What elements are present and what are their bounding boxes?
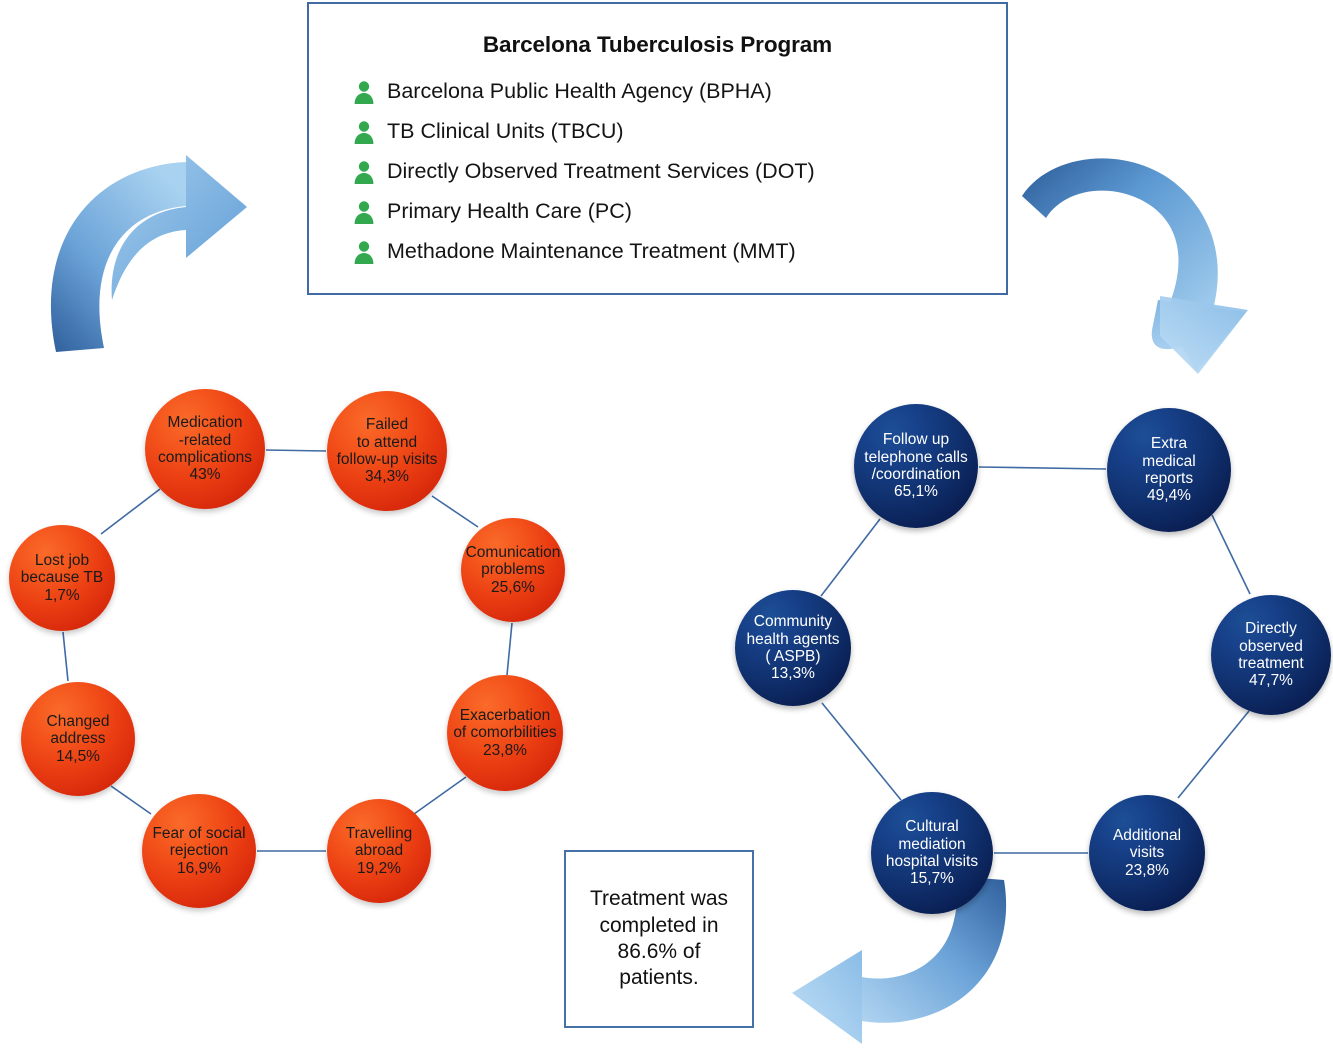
person-icon <box>353 79 375 105</box>
node-directly-observed-treatment: Directly observed treatment 47,7% <box>1211 595 1331 715</box>
arrow-top-left-icon <box>51 155 247 352</box>
node-label: Directly observed treatment 47,7% <box>1236 620 1305 689</box>
edge-cultural-community <box>822 703 901 800</box>
program-list-item: Directly Observed Treatment Services (DO… <box>353 151 993 191</box>
node-label: Lost job because TB 1,7% <box>19 552 105 604</box>
program-item-label: TB Clinical Units (TBCU) <box>387 119 624 144</box>
node-extra-medical-reports: Extra medical reports 49,4% <box>1107 408 1231 532</box>
edge-fear-changed <box>111 786 151 814</box>
node-label: Fear of social rejection 16,9% <box>150 825 247 877</box>
node-label: Exacerbation of comorbilities 23,8% <box>451 707 558 759</box>
person-icon <box>353 239 375 265</box>
program-list-item: Methadone Maintenance Treatment (MMT) <box>353 231 993 271</box>
node-label: Extra medical reports 49,4% <box>1140 435 1197 504</box>
edge-exacer-travelling <box>414 777 466 814</box>
arrow-top-right-icon <box>1022 158 1248 374</box>
edge-medication-failed <box>266 450 326 451</box>
node-exacerbation-of-comorbilities: Exacerbation of comorbilities 23,8% <box>447 675 563 791</box>
node-label: Additional visits 23,8% <box>1111 827 1183 879</box>
node-label: Medication -related complications 43% <box>156 414 254 483</box>
node-cultural-mediation-hospital-visits: Cultural mediation hospital visits 15,7% <box>871 792 993 914</box>
edge-lostjob-medication <box>101 489 160 534</box>
program-list: Barcelona Public Health Agency (BPHA) TB… <box>353 71 993 271</box>
node-label: Travelling abroad 19,2% <box>344 825 415 877</box>
node-follow-up-telephone-calls: Follow up telephone calls /coordination … <box>854 404 978 528</box>
node-label: Follow up telephone calls /coordination … <box>862 431 969 500</box>
node-label: Failed to attend follow-up visits 34,3% <box>335 416 440 485</box>
node-changed-address: Changed address 14,5% <box>21 682 135 796</box>
edge-communication-exacer <box>507 623 512 675</box>
program-list-item: Primary Health Care (PC) <box>353 191 993 231</box>
treatment-completion-box: Treatment was completed in 86.6% of pati… <box>564 850 754 1028</box>
edge-followup-extra <box>979 467 1106 469</box>
node-label: Cultural mediation hospital visits 15,7% <box>884 818 980 887</box>
edge-failed-communication <box>432 496 478 527</box>
program-list-item: Barcelona Public Health Agency (BPHA) <box>353 71 993 111</box>
program-box: Barcelona Tuberculosis Program Barcelona… <box>307 2 1008 295</box>
treatment-completion-text: Treatment was completed in 86.6% of pati… <box>584 886 734 992</box>
program-item-label: Primary Health Care (PC) <box>387 199 632 224</box>
edge-changed-lostjob <box>63 632 68 681</box>
node-lost-job-because-tb: Lost job because TB 1,7% <box>9 525 115 631</box>
node-community-health-agents-aspb: Community health agents ( ASPB) 13,3% <box>735 590 851 706</box>
node-label: Comunication problems 25,6% <box>464 544 563 596</box>
edge-community-followup <box>821 519 880 596</box>
program-item-label: Directly Observed Treatment Services (DO… <box>387 159 815 184</box>
program-item-label: Methadone Maintenance Treatment (MMT) <box>387 239 796 264</box>
node-medication-related-complications: Medication -related complications 43% <box>145 389 265 509</box>
person-icon <box>353 119 375 145</box>
diagram-canvas: Barcelona Tuberculosis Program Barcelona… <box>0 0 1333 1048</box>
edge-extra-dot <box>1212 515 1250 594</box>
program-item-label: Barcelona Public Health Agency (BPHA) <box>387 79 772 104</box>
node-comunication-problems: Comunication problems 25,6% <box>461 518 565 622</box>
node-failed-to-attend-follow-up-visits: Failed to attend follow-up visits 34,3% <box>327 391 447 511</box>
person-icon <box>353 159 375 185</box>
edge-dot-additional <box>1178 711 1249 798</box>
edges-barriers <box>63 450 512 851</box>
node-label: Community health agents ( ASPB) 13,3% <box>744 613 841 682</box>
node-fear-of-social-rejection: Fear of social rejection 16,9% <box>142 794 256 908</box>
node-additional-visits: Additional visits 23,8% <box>1089 795 1205 911</box>
node-travelling-abroad: Travelling abroad 19,2% <box>327 799 431 903</box>
program-list-item: TB Clinical Units (TBCU) <box>353 111 993 151</box>
node-label: Changed address 14,5% <box>45 713 112 765</box>
program-title: Barcelona Tuberculosis Program <box>309 32 1006 58</box>
person-icon <box>353 199 375 225</box>
